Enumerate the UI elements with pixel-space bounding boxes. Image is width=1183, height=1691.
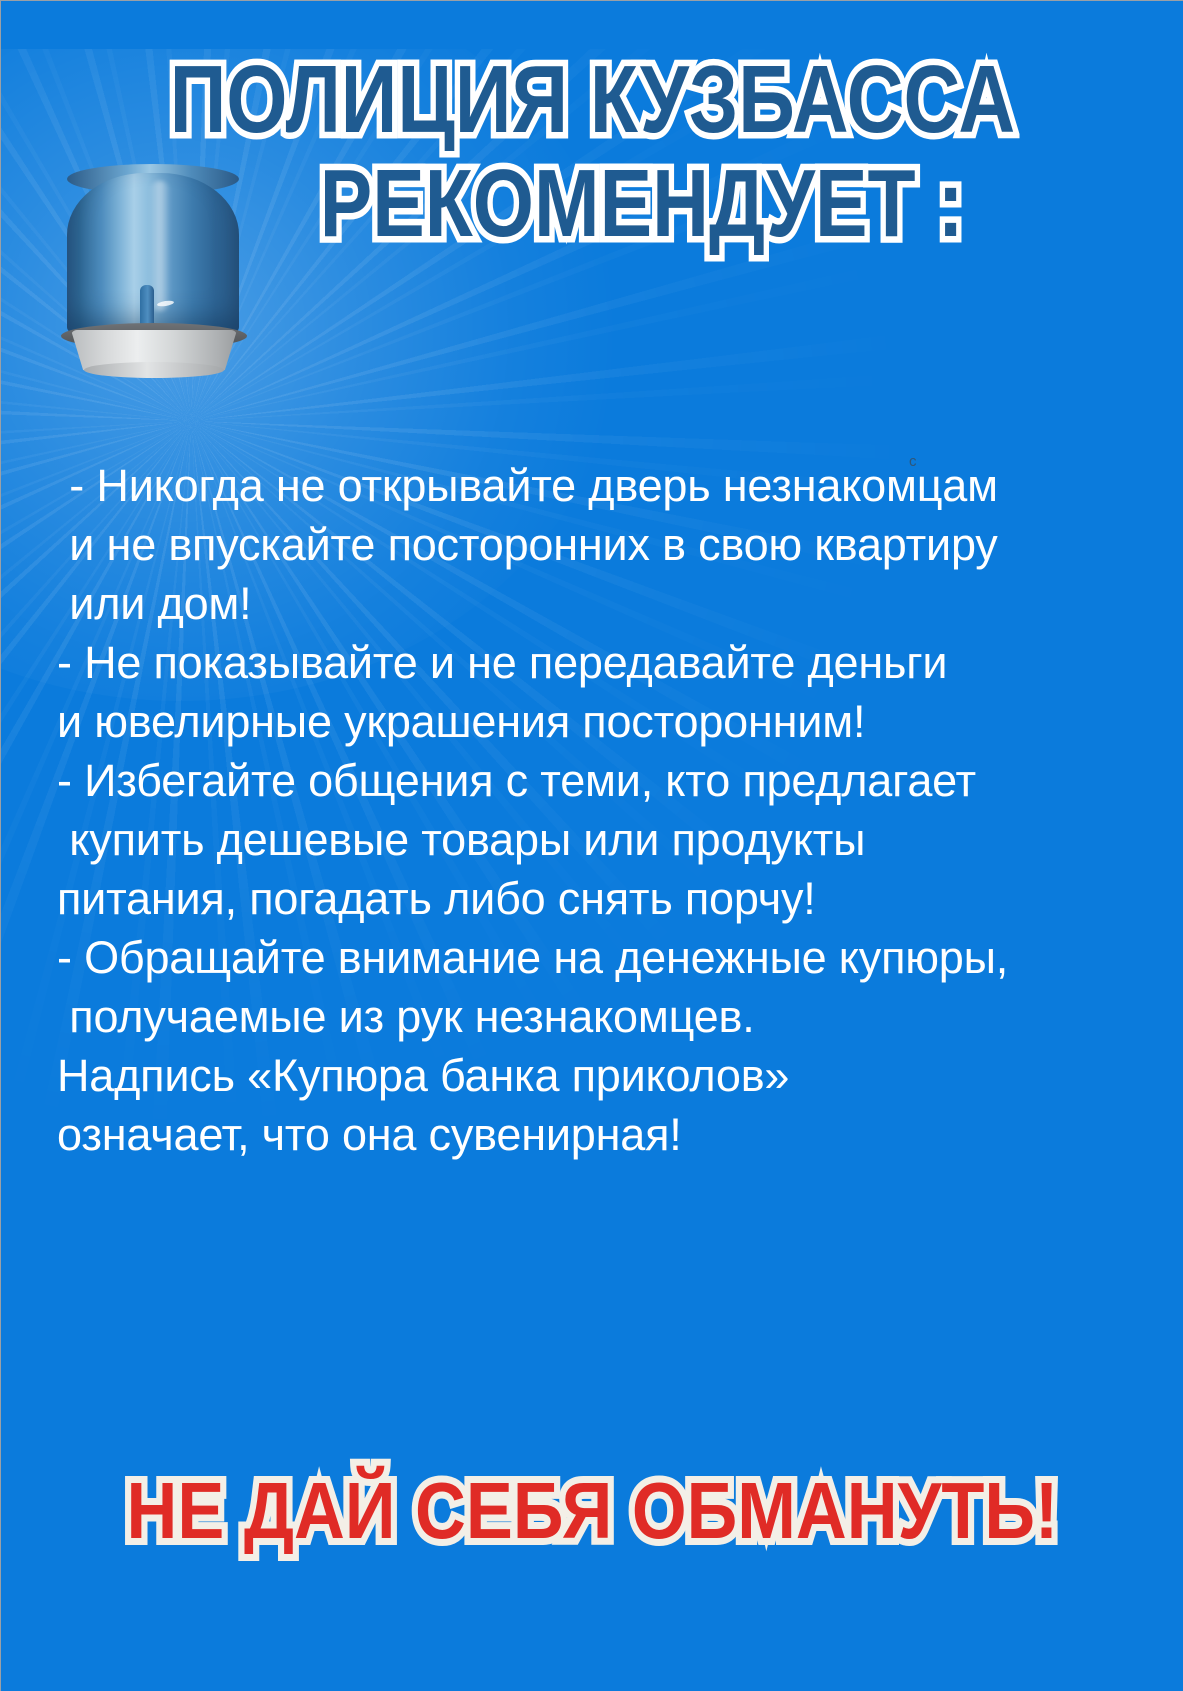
bottom-warning-banner: НЕ ДАЙ СЕБЯ ОБМАНУТЬ!: [1, 1471, 1183, 1551]
recommendation-line: и не впускайте посторонних в свою кварти…: [57, 515, 1147, 574]
recommendation-line: - Обращайте внимание на денежные купюры,: [57, 928, 1147, 987]
recommendation-line: Надпись «Купюра банка приколов»: [57, 1046, 1147, 1105]
recommendation-list: - Никогда не открывайте дверь незнакомца…: [57, 456, 1147, 1164]
bottom-warning-text: НЕ ДАЙ СЕБЯ ОБМАНУТЬ!: [127, 1471, 1059, 1551]
headline-line-1: ПОЛИЦИЯ КУЗБАССА: [107, 53, 1077, 147]
recommendation-line: или дом!: [57, 574, 1147, 633]
poster-headline: ПОЛИЦИЯ КУЗБАССА РЕКОМЕНДУЕТ :: [1, 53, 1183, 251]
recommendation-line: и ювелирные украшения посторонним!: [57, 692, 1147, 751]
beacon-base-bottom: [84, 362, 224, 378]
recommendation-line: питания, погадать либо снять порчу!: [57, 869, 1147, 928]
headline-line-2: РЕКОМЕНДУЕТ :: [107, 157, 1077, 251]
recommendation-line: - Не показывайте и не передавайте деньги: [57, 633, 1147, 692]
recommendation-line: - Избегайте общения с теми, кто предлага…: [57, 751, 1147, 810]
recommendation-line: означает, что она сувенирная!: [57, 1105, 1147, 1164]
recommendation-line: купить дешевые товары или продукты: [57, 810, 1147, 869]
recommendation-line: - Никогда не открывайте дверь незнакомца…: [57, 456, 1147, 515]
police-warning-poster: ПОЛИЦИЯ КУЗБАССА РЕКОМЕНДУЕТ : - Никогда…: [0, 0, 1183, 1691]
recommendation-line: получаемые из рук незнакомцев.: [57, 987, 1147, 1046]
stray-mark: c: [909, 456, 916, 467]
